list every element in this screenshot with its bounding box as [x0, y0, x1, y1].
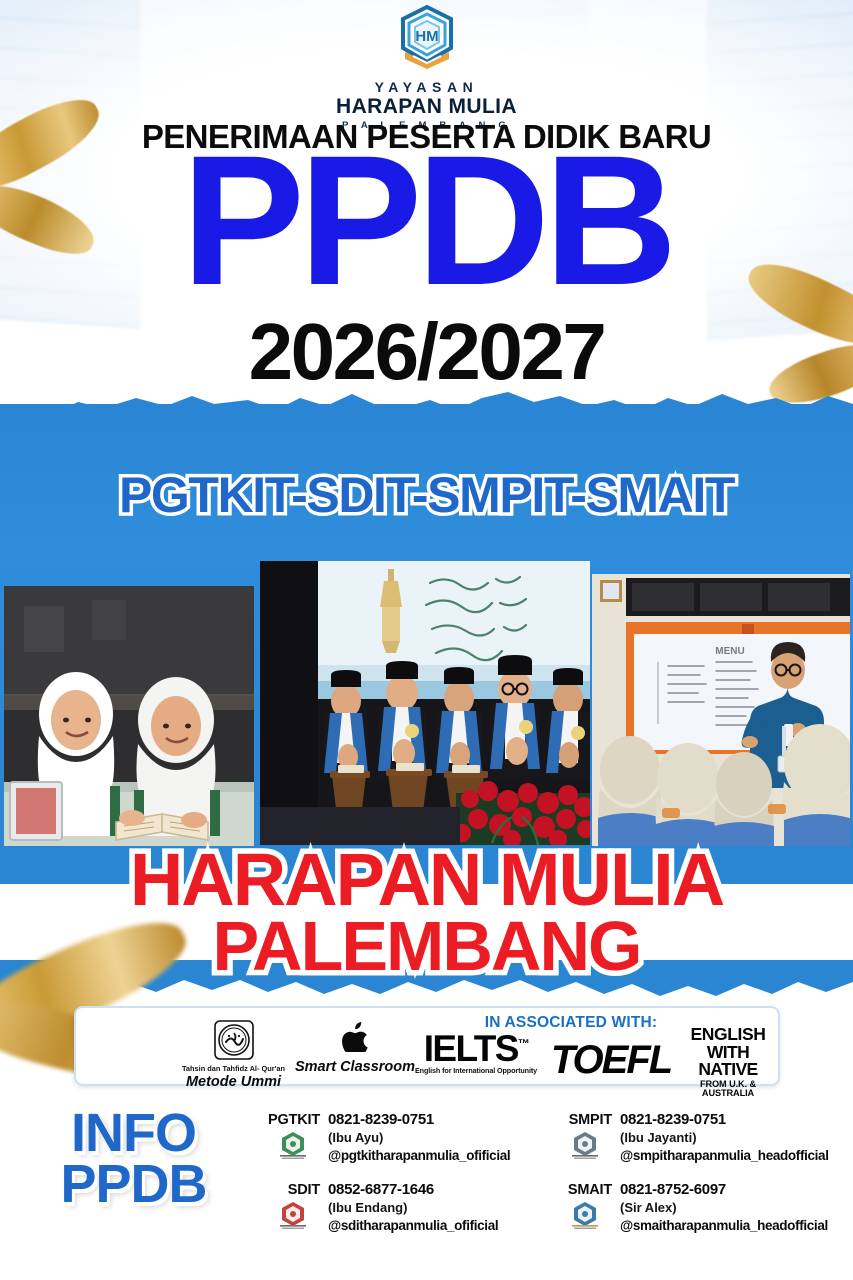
contact-list: PGTKIT 0821-8239-0751 (Ibu Ayu) @pgtkith… [240, 1112, 853, 1262]
ielts-wordmark: IELTS™ [406, 1032, 546, 1066]
contact-instagram[interactable]: @smpitharapanmulia_headofficial [620, 1147, 829, 1165]
logo-yayasan-text: YAYASAN [0, 80, 853, 94]
school-badge-icon [568, 1130, 602, 1160]
ppdb-poster: HM YAYASAN HARAPAN MULIA P A L E M B A N… [0, 0, 853, 1280]
contact-details: 0852-6877-1646 (Ibu Endang) @sditharapan… [328, 1181, 498, 1234]
info-line2: PPDB [26, 1159, 241, 1210]
contact-person: (Sir Alex) [620, 1200, 828, 1217]
academic-year: 2026/2027 [0, 312, 853, 392]
contact-phone[interactable]: 0852-6877-1646 [328, 1181, 498, 1200]
contact-details: 0821-8752-6097 (Sir Alex) @smaitharapanm… [620, 1181, 828, 1234]
contact-details: 0821-8239-0751 (Ibu Jayanti) @smpitharap… [620, 1111, 829, 1164]
contact-person: (Ibu Jayanti) [620, 1130, 829, 1147]
contact-phone[interactable]: 0821-8752-6097 [620, 1181, 828, 1200]
info-ppdb-block: INFO PPDB [26, 1108, 241, 1210]
ielts-tm: ™ [518, 1037, 528, 1051]
apple-logo-icon [342, 1022, 368, 1052]
contact-smpit[interactable]: SMPIT 0821-8239-0751 (Ibu Jayanti) @smpi… [532, 1112, 832, 1184]
harapan-mulia-dome-book-logo-icon: HM [393, 4, 461, 74]
contact-unit-label: PGTKIT [240, 1112, 320, 1128]
ewn-line1: ENGLISH [676, 1026, 780, 1044]
ewn-line2: WITH NATIVE [676, 1044, 780, 1079]
contact-instagram[interactable]: @pgtkitharapanmulia_ofificial [328, 1147, 510, 1165]
school-badge-icon [276, 1200, 310, 1230]
quran-competition-panel-photo [260, 561, 590, 845]
students-reading-quran-photo [4, 586, 254, 846]
smart-classroom-title: Smart Classroom [290, 1059, 420, 1075]
associated-partners-bar: IN ASSOCIATED WITH: Tahsin dan Tahfidz A… [74, 1006, 780, 1086]
partner-smart-classroom: Smart Classroom [290, 1022, 420, 1075]
ewn-line3: FROM U.K. & AUSTRALIA [676, 1080, 780, 1098]
contact-unit-label: SMAIT [532, 1182, 612, 1198]
contact-smait[interactable]: SMAIT 0821-8752-6097 (Sir Alex) @smaitha… [532, 1182, 832, 1254]
partner-english-with-native: ENGLISH WITH NATIVE FROM U.K. & AUSTRALI… [676, 1026, 780, 1098]
svg-text:HM: HM [415, 28, 438, 45]
foundation-logo-block: HM YAYASAN HARAPAN MULIA P A L E M B A N… [0, 4, 853, 131]
school-badge-icon [276, 1130, 310, 1160]
photo-strip: MENU [0, 560, 853, 850]
contact-unit-label: SDIT [240, 1182, 320, 1198]
logo-name-text: HARAPAN MULIA [0, 96, 853, 118]
contact-instagram[interactable]: @sditharapanmulia_ofificial [328, 1217, 498, 1235]
contact-unit-label: SMPIT [532, 1112, 612, 1128]
contact-instagram[interactable]: @smaitharapanmulia_headofficial [620, 1217, 828, 1235]
classroom-teacher-photo: MENU [592, 574, 850, 846]
ummi-title: Metode Ummi [171, 1074, 296, 1090]
contact-details: 0821-8239-0751 (Ibu Ayu) @pgtkitharapanm… [328, 1111, 510, 1164]
contact-phone[interactable]: 0821-8239-0751 [620, 1111, 829, 1130]
contact-sdit[interactable]: SDIT 0852-6877-1646 (Ibu Endang) @sditha… [240, 1182, 540, 1254]
school-types-label: PGTKIT-SDIT-SMPIT-SMAIT [0, 466, 853, 524]
ummi-arabic-seal-icon [214, 1020, 254, 1060]
contact-person: (Ibu Endang) [328, 1200, 498, 1217]
ppdb-title: PPDB [0, 142, 853, 301]
partner-metode-ummi: Tahsin dan Tahfidz Al- Qur'an Metode Umm… [171, 1020, 296, 1090]
school-badge-icon [568, 1200, 602, 1230]
ielts-text: IELTS [424, 1028, 518, 1069]
info-line1: INFO [26, 1108, 241, 1159]
contact-pgtkit[interactable]: PGTKIT 0821-8239-0751 (Ibu Ayu) @pgtkith… [240, 1112, 540, 1184]
ielts-tagline: English for International Opportunity [406, 1066, 546, 1075]
partner-ielts: IELTS™ English for International Opportu… [406, 1032, 546, 1075]
contact-phone[interactable]: 0821-8239-0751 [328, 1111, 510, 1130]
torn-paper-edge-top [0, 384, 853, 432]
partner-toefl: TOEFL [542, 1038, 680, 1083]
svg-text:MENU: MENU [715, 646, 744, 657]
ummi-subtitle: Tahsin dan Tahfidz Al- Qur'an [171, 1065, 296, 1074]
contact-person: (Ibu Ayu) [328, 1130, 510, 1147]
